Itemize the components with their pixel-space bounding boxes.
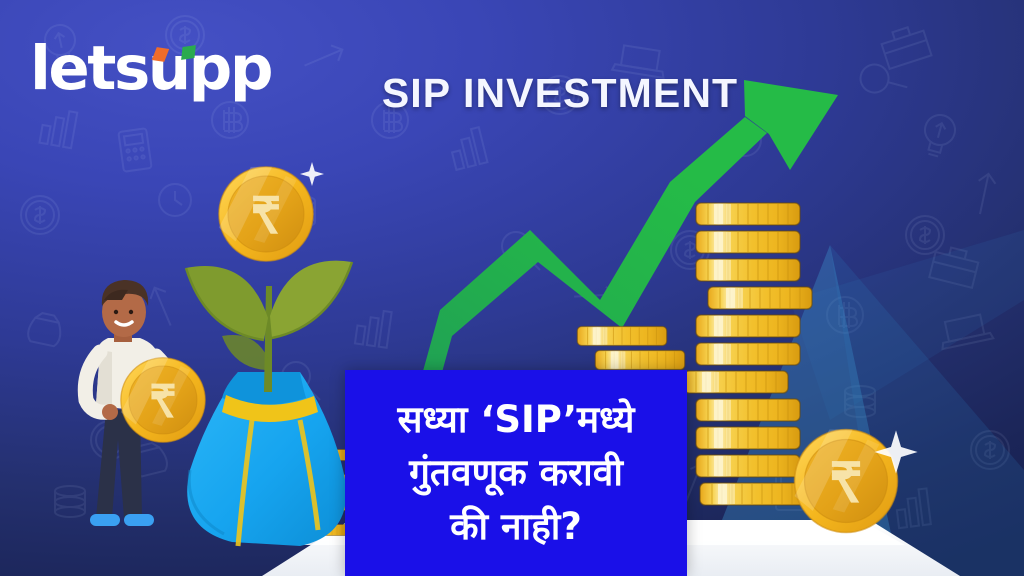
- banner-line-1: सध्या ‘SIP’मध्ये: [397, 394, 634, 445]
- held-rupee-coin: [121, 358, 205, 442]
- banner-line-2: गुंतवणूक करावी: [409, 447, 623, 498]
- headline-banner: सध्या ‘SIP’मध्ये गुंतवणूक करावी की नाही?: [345, 370, 687, 576]
- money-plant: [186, 261, 352, 392]
- letsupp-logo[interactable]: letsupp: [30, 38, 271, 99]
- page-title: SIP INVESTMENT: [360, 70, 760, 117]
- logo-wordmark: letsupp: [30, 38, 271, 99]
- feature-coin-sparkle: [874, 430, 917, 473]
- plant-rupee-coin: [219, 167, 313, 261]
- logo-accent-green-icon: [181, 45, 196, 60]
- money-bag: [187, 372, 346, 546]
- plant-coin-sparkle: [300, 162, 324, 186]
- investor-character: [85, 280, 187, 526]
- banner-line-3: की नाही?: [450, 501, 582, 552]
- coin-stack-tall: [684, 203, 812, 505]
- coin-stack-side: [296, 450, 348, 536]
- sip-investment-graphic: letsupp SIP INVESTMENT सध्या ‘SIP’मध्ये …: [0, 0, 1024, 576]
- feature-rupee-coin: [795, 430, 898, 533]
